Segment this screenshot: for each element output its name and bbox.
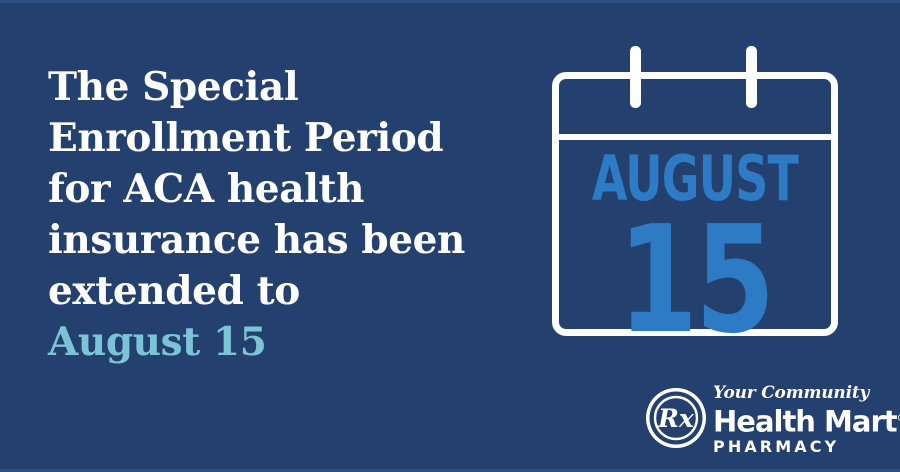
logo-sub-brand: PHARMACY [713,438,898,456]
rx-circle-icon: Rx [645,387,707,449]
calendar-ring-left-icon [630,46,641,108]
headline-block: The Special Enrollment Period for ACA he… [48,62,528,368]
svg-text:Rx: Rx [657,404,695,433]
headline-line-1: The Special [48,62,528,113]
logo-brand-text: Health Mart [713,405,897,439]
health-mart-logo: Rx Your Community Health Mart® PHARMACY [645,383,895,455]
headline-line-4: insurance has been [48,215,528,266]
calendar-ring-right-icon [746,46,757,108]
logo-brand-name: Health Mart® [713,403,898,438]
headline-line-3: for ACA health [48,164,528,215]
headline-line-5: extended to [48,266,528,317]
headline-line-2: Enrollment Period [48,113,528,164]
calendar-icon: AUGUST 15 [552,46,838,336]
calendar-day-label: 15 [583,206,806,354]
promo-banner: The Special Enrollment Period for ACA he… [0,0,900,472]
logo-text-lockup: Your Community Health Mart® PHARMACY [713,383,898,456]
headline-accent-date: August 15 [48,317,528,368]
registered-trademark-icon: ® [897,413,900,424]
top-edge-line [0,0,900,3]
calendar-header-rule [552,134,838,140]
logo-tagline: Your Community [713,383,898,403]
